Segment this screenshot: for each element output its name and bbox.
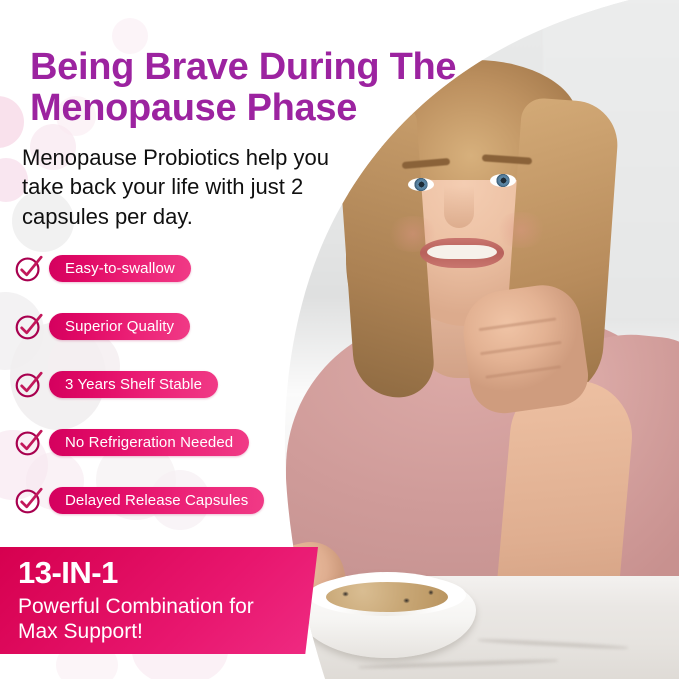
knuckle-line (485, 365, 561, 379)
teeth (427, 245, 497, 259)
check-circle-icon (14, 312, 43, 341)
banner-title: 13-IN-1 (18, 555, 118, 591)
eye (408, 178, 434, 191)
decorative-blob (0, 96, 24, 148)
knuckle-line (480, 341, 562, 355)
list-item: Delayed Release Capsules (14, 482, 304, 518)
nose (444, 186, 474, 228)
feature-label: No Refrigeration Needed (65, 434, 233, 451)
feature-pill: No Refrigeration Needed (49, 429, 249, 456)
feature-pill: Easy-to-swallow (49, 255, 191, 282)
banner-subtitle: Powerful Combination for Max Support! (18, 594, 288, 644)
check-circle-icon (14, 486, 43, 515)
granola (326, 582, 448, 612)
list-item: Superior Quality (14, 308, 304, 344)
feature-label: Delayed Release Capsules (65, 492, 248, 509)
infographic-canvas: Being Brave During The Menopause Phase M… (0, 0, 679, 679)
cheek (494, 212, 548, 248)
knuckle-line (479, 317, 557, 331)
subheading-text: Menopause Probiotics help you take back … (22, 143, 357, 231)
feature-label: Easy-to-swallow (65, 260, 175, 277)
feature-pill: Superior Quality (49, 313, 190, 340)
check-circle-icon (14, 370, 43, 399)
list-item: 3 Years Shelf Stable (14, 366, 304, 402)
list-item: Easy-to-swallow (14, 250, 304, 286)
list-item: No Refrigeration Needed (14, 424, 304, 460)
feature-label: Superior Quality (65, 318, 174, 335)
feature-list: Easy-to-swallow Superior Quality (14, 250, 304, 540)
check-circle-icon (14, 254, 43, 283)
feature-pill: Delayed Release Capsules (49, 487, 264, 514)
marble-vein (478, 638, 628, 650)
marble-vein (358, 659, 558, 670)
fist (458, 280, 592, 417)
eye (490, 174, 516, 187)
check-circle-icon (14, 428, 43, 457)
feature-label: 3 Years Shelf Stable (65, 376, 202, 393)
promo-banner: 13-IN-1 Powerful Combination for Max Sup… (0, 547, 318, 654)
mouth (420, 238, 504, 268)
page-title: Being Brave During The Menopause Phase (30, 47, 550, 128)
feature-pill: 3 Years Shelf Stable (49, 371, 218, 398)
